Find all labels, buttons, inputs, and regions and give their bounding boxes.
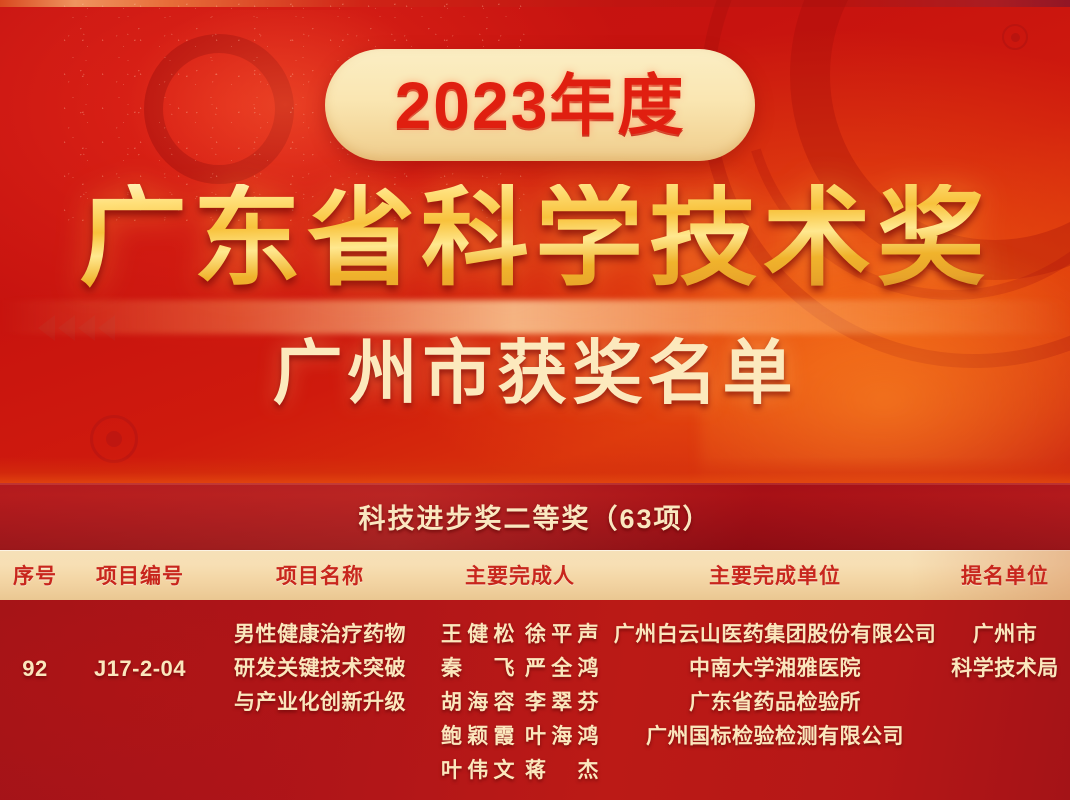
column-header-units: 主要完成单位 (610, 560, 940, 590)
unit-name: 中南大学湘雅医院 (689, 652, 861, 686)
people-line: 秦 飞 严全鸿 (441, 652, 599, 686)
table-body: 92 J17-2-04 男性健康治疗药物 研发关键技术突破 与产业化创新升级 王… (0, 600, 1070, 800)
page-title: 广东省科学技术奖 (0, 184, 1070, 292)
unit-name: 广州白云山医药集团股份有限公司 (614, 618, 937, 652)
cell-no: 92 (0, 618, 70, 686)
nominator-line: 广州市 (973, 618, 1038, 652)
project-line: 与产业化创新升级 (210, 686, 430, 720)
unit-name: 广东省药品检验所 (689, 686, 861, 720)
project-line: 研发关键技术突破 (210, 652, 430, 686)
person-name: 李翠芬 (525, 686, 599, 720)
banner-bottom-fade (0, 457, 1070, 483)
person-name: 鲍颖霞 (441, 720, 515, 754)
person-name: 叶伟文 (441, 754, 515, 788)
target-circle-icon-small (1002, 24, 1028, 50)
horizon-glow (0, 300, 1070, 334)
person-name: 王健松 (441, 618, 515, 652)
column-header-code: 项目编号 (70, 560, 210, 590)
cell-code: J17-2-04 (70, 618, 210, 686)
person-name: 胡海容 (441, 686, 515, 720)
people-line: 王健松 徐平声 (441, 618, 599, 652)
unit-name: 广州国标检验检测有限公司 (646, 720, 904, 754)
column-header-people: 主要完成人 (430, 560, 610, 590)
person-name: 秦 飞 (441, 652, 515, 686)
people-line: 胡海容 李翠芬 (441, 686, 599, 720)
year-badge-label: 2023年度 (395, 72, 686, 138)
column-header-project: 项目名称 (210, 560, 430, 590)
person-name: 严全鸿 (525, 652, 599, 686)
person-name: 叶海鸿 (525, 720, 599, 754)
person-name: 徐平声 (525, 618, 599, 652)
page-subtitle: 广州市获奖名单 (0, 338, 1070, 408)
nominator-line: 科学技术局 (951, 652, 1059, 686)
target-circle-icon (90, 415, 138, 463)
category-label: 科技进步奖二等奖（63项） (358, 497, 711, 536)
column-header-no: 序号 (0, 560, 70, 590)
people-line: 鲍颖霞 叶海鸿 (441, 720, 599, 754)
cell-people: 王健松 徐平声 秦 飞 严全鸿 胡海容 李翠芬 鲍颖霞 叶海鸿 (430, 618, 610, 788)
cell-units: 广州白云山医药集团股份有限公司 中南大学湘雅医院 广东省药品检验所 广州国标检验… (610, 618, 940, 754)
category-band: 科技进步奖二等奖（63项） (0, 483, 1070, 550)
project-line: 男性健康治疗药物 (210, 618, 430, 652)
people-line: 叶伟文 蒋 杰 (441, 754, 599, 788)
column-header-nominator: 提名单位 (940, 560, 1070, 590)
award-list-poster: 2023年度 广东省科学技术奖 广州市获奖名单 科技进步奖二等奖（63项） 序号… (0, 0, 1070, 800)
table-header: 序号 项目编号 项目名称 主要完成人 主要完成单位 提名单位 (0, 550, 1070, 600)
cell-nominator: 广州市 科学技术局 (940, 618, 1070, 686)
year-badge: 2023年度 (325, 49, 755, 161)
cell-project-name: 男性健康治疗药物 研发关键技术突破 与产业化创新升级 (210, 618, 430, 720)
table-row[interactable]: 92 J17-2-04 男性健康治疗药物 研发关键技术突破 与产业化创新升级 王… (0, 600, 1070, 788)
poster-banner: 2023年度 广东省科学技术奖 广州市获奖名单 (0, 0, 1070, 483)
person-name: 蒋 杰 (525, 754, 599, 788)
